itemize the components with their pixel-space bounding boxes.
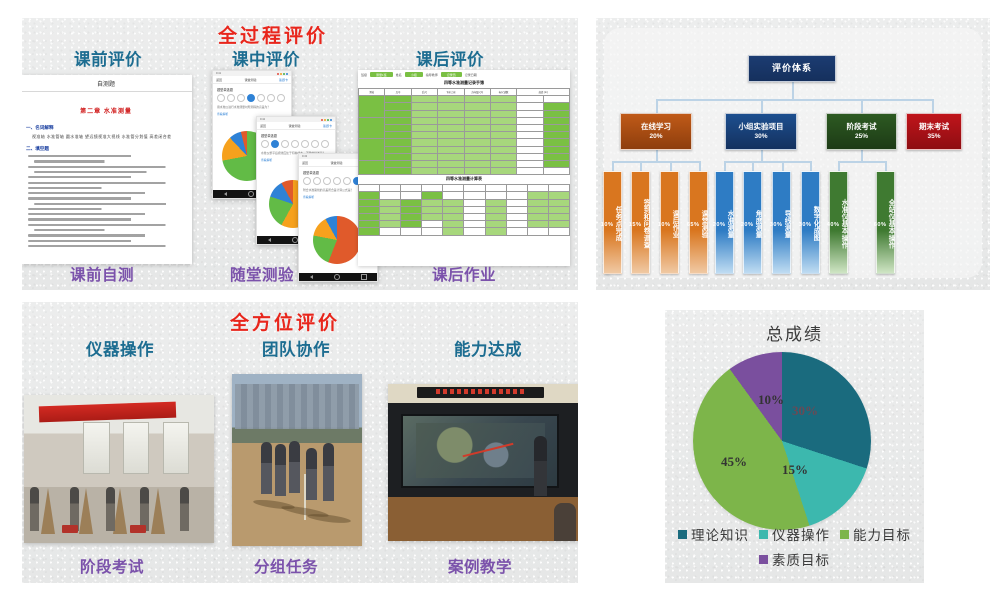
document-text-line — [28, 208, 184, 210]
node-label: 阶段考试 — [847, 123, 877, 132]
table-row — [359, 168, 570, 175]
chart-legend: 理论知识 仪器操作 能力目标 素质目标 — [665, 524, 924, 569]
table-row — [359, 139, 570, 146]
column-head-instrument: 仪器操作 — [86, 336, 154, 360]
phone-title: 课堂测验 — [288, 124, 300, 128]
connector — [810, 161, 812, 171]
sheet-record-table: 测站 点号 后尺 下丝上丝 方向及尺号 标尺读数 高差 (m) — [358, 88, 570, 175]
table-row — [359, 192, 570, 199]
photo-window — [163, 422, 190, 474]
photo-window — [83, 422, 110, 474]
sheet-calc-table — [358, 184, 570, 235]
document-text-line — [28, 197, 184, 199]
column-head-pre-class: 课前评价 — [74, 46, 142, 70]
column-head-teamwork: 团队协作 — [262, 336, 330, 360]
document-text-line — [28, 245, 184, 247]
photo-person — [289, 441, 300, 493]
phone-answer-card-link[interactable]: 答题卡 — [323, 124, 332, 128]
document-text-line — [34, 203, 184, 205]
legend-label: 仪器操作 — [772, 524, 830, 544]
leaf-percent: 10% — [658, 222, 671, 228]
column-foot-in-class: 随堂测验 — [230, 263, 294, 285]
th: 点号 — [385, 89, 411, 96]
sheet-field-class-label: 班级 — [361, 73, 367, 77]
document-text-line — [28, 213, 184, 215]
sheet-field-teacher-label: 指导教师 — [426, 73, 438, 77]
photo-person — [30, 487, 39, 531]
document-text-line — [28, 166, 184, 168]
sheet-field-name-label: 姓名 — [396, 73, 402, 77]
diagram-leaf-traverse-survey[interactable]: 导线测量 30% — [772, 171, 791, 274]
leaf-label: 课后作业 — [670, 210, 678, 238]
connector — [612, 161, 700, 163]
legend-label: 能力目标 — [853, 524, 911, 544]
photo-instrument-case — [62, 525, 78, 533]
leaf-label: 签到和问卷调查 — [641, 199, 649, 249]
photo-person — [106, 487, 115, 531]
diagram-leaf-signin-survey[interactable]: 签到和问卷调查 15% — [631, 171, 650, 274]
document-text-line — [28, 182, 184, 184]
sheet-field-date-label: 记录日期 — [465, 73, 477, 77]
photo-team-fieldwork — [232, 374, 362, 546]
phone-system-nav[interactable] — [299, 273, 377, 281]
photo-teacher — [534, 436, 547, 496]
allround-evaluation-panel: 全方位评价 仪器操作 团队协作 能力达成 — [22, 302, 578, 583]
document-terms-line: 视准轴 水准管轴 圆水准轴 望远镜视准大视线 水准管分划值 高差闭合差 — [32, 134, 192, 140]
photo-shadow — [307, 512, 352, 524]
leaf-percent: 40% — [827, 222, 840, 228]
leaf-label: 角度测量 — [753, 210, 761, 238]
legend-item-theory[interactable]: 理论知识 — [678, 524, 749, 544]
connector — [792, 81, 794, 99]
table-row — [359, 228, 570, 235]
th: 高差 (m) — [517, 89, 570, 96]
homework-spreadsheet: 班级 测量1班 姓名 小组 指导教师 记录员 记录日期 四等水准测量记录手簿 测… — [358, 70, 570, 266]
column-head-in-class: 课中评价 — [232, 46, 300, 70]
legend-label: 理论知识 — [691, 524, 749, 544]
connector — [861, 99, 863, 113]
slice-label-ability: 45% — [721, 454, 747, 470]
phone-nav-bar: 返回 课堂测验 答题卡 — [213, 76, 291, 84]
legend-swatch-icon — [678, 530, 687, 539]
diagram-node-online-learning[interactable]: 在线学习 20% — [620, 113, 692, 150]
document-text-line — [34, 171, 184, 173]
legend-swatch-icon — [840, 530, 849, 539]
th: 后尺 — [411, 89, 437, 96]
photo-case-teaching — [388, 384, 578, 541]
photo-person — [275, 444, 286, 496]
document-text-line — [28, 192, 184, 194]
phone-back-label[interactable]: 返回 — [216, 78, 222, 82]
document-chapter-title: 第二章 水准测量 — [22, 106, 192, 115]
leaf-percent: 10% — [601, 222, 614, 228]
column-foot-instrument: 阶段考试 — [80, 555, 144, 577]
phone-question-type: 题型单选题 — [261, 133, 335, 138]
connector — [932, 99, 934, 113]
document-text-line — [28, 155, 184, 157]
spreadsheet-toolbar: 班级 测量1班 姓名 小组 指导教师 记录员 记录日期 — [358, 70, 570, 79]
document-text-line — [34, 229, 184, 231]
legend-swatch-icon — [759, 530, 768, 539]
phone-question-numbers[interactable] — [257, 140, 335, 148]
connector — [699, 161, 701, 171]
connector — [724, 161, 726, 171]
node-percent: 35% — [927, 133, 940, 140]
legend-item-instrument[interactable]: 仪器操作 — [759, 524, 830, 544]
column-foot-teamwork: 分组任务 — [254, 555, 318, 577]
photo-student — [554, 503, 576, 541]
table-row — [359, 96, 570, 103]
phone-back-label[interactable]: 返回 — [260, 124, 266, 128]
table-row — [359, 160, 570, 167]
diagram-leaf-class-quiz[interactable]: 课堂测验 65% — [689, 171, 708, 274]
table-row — [359, 206, 570, 213]
photo-tripod — [41, 488, 55, 534]
total-score-chart-panel: 总成绩 30% 15% 45% 10% 理论知识 仪器操作 能力目标 素质目标 — [665, 310, 924, 583]
leaf-label: 课堂测验 — [699, 210, 707, 238]
process-panel-title: 全过程评价 — [218, 21, 328, 48]
connector — [612, 161, 614, 171]
slice-label-quality: 10% — [758, 392, 784, 408]
connector — [885, 161, 887, 171]
phone-answer-card-link[interactable]: 答题卡 — [279, 78, 288, 82]
leaf-percent: 30% — [770, 222, 783, 228]
table-row — [359, 153, 570, 160]
pie-chart — [693, 352, 871, 530]
photo-window — [123, 422, 150, 474]
document-section-terms: 一、名词解释 — [26, 125, 192, 131]
table-header-row — [359, 185, 570, 192]
photo-led-display — [417, 387, 544, 398]
diagram-leaf-task-completion[interactable]: 任务点完成 10% — [603, 171, 622, 274]
photo-person — [323, 443, 334, 501]
table-row — [359, 124, 570, 131]
connector — [782, 161, 784, 171]
connector — [670, 161, 672, 171]
sheet-caption-record: 四等水准测量记录手簿 — [358, 80, 570, 86]
legend-swatch-icon — [759, 555, 768, 564]
connector — [640, 161, 642, 171]
legend-item-quality[interactable]: 素质目标 — [759, 549, 830, 569]
column-foot-after-class: 课后作业 — [432, 263, 496, 285]
phone-question-text: 用水准仪进行水准测量时所测得的高差为？ — [217, 105, 287, 109]
connector — [656, 99, 933, 101]
column-head-ability: 能力达成 — [454, 336, 522, 360]
photo-person — [261, 442, 272, 494]
phone-back-label[interactable]: 返回 — [302, 161, 308, 165]
leaf-percent: 30% — [799, 222, 812, 228]
sheet-caption-calc: 四等水准测量计算表 — [358, 176, 570, 182]
connector — [861, 149, 863, 161]
node-percent: 30% — [754, 133, 767, 140]
photo-banner — [39, 401, 176, 422]
phone-title: 课堂测验 — [244, 78, 256, 82]
photo-instrument-operation — [24, 395, 214, 543]
node-label: 评价体系 — [772, 63, 812, 73]
phone-question-numbers[interactable] — [213, 94, 291, 102]
document-text-line — [28, 176, 184, 178]
evaluation-system-diagram: 评价体系 在线学习 20% 小组实验项目 30% 阶段考试 25% 期末考试 3… — [596, 18, 990, 290]
column-foot-ability: 案例教学 — [448, 555, 512, 577]
diagram-leaf-digital-mapping[interactable]: 数字化成图 30% — [801, 171, 820, 274]
connector — [724, 161, 811, 163]
diagram-node-root[interactable]: 评价体系 — [748, 55, 836, 82]
phone-result-pie-chart — [313, 216, 361, 264]
node-percent: 20% — [649, 133, 662, 140]
leaf-label: 数字化成图 — [811, 206, 819, 242]
table-row — [359, 132, 570, 139]
table-row — [359, 146, 570, 153]
sheet-chip-recorder: 记录员 — [441, 72, 462, 77]
column-head-after-class: 课后评价 — [416, 46, 484, 70]
document-section-blanks: 二、填空题 — [26, 146, 192, 152]
self-test-document: 自测题 第二章 水准测量 一、名词解释 视准轴 水准管轴 圆水准轴 望远镜视准大… — [22, 75, 192, 264]
connector — [838, 161, 886, 163]
slice-label-theory: 30% — [792, 403, 818, 419]
diagram-leaf-leveling-survey[interactable]: 水准测量 20% — [715, 171, 734, 274]
table-row — [359, 103, 570, 110]
connector — [656, 99, 658, 113]
evaluation-system-panel: 评价体系 在线学习 20% 小组实验项目 30% 阶段考试 25% 期末考试 3… — [596, 18, 990, 290]
photo-instrument-case — [130, 525, 146, 533]
photo-tripod — [113, 488, 127, 534]
leaf-label: 水准测量 — [725, 210, 733, 238]
diagram-node-stage-exam[interactable]: 阶段考试 25% — [826, 113, 897, 150]
column-foot-pre-class: 课前自测 — [70, 263, 134, 285]
diagram-node-group-experiment[interactable]: 小组实验项目 30% — [725, 113, 797, 150]
document-header: 自测题 — [22, 75, 192, 92]
sheet-chip-group: 小组 — [405, 72, 423, 77]
leaf-percent: 65% — [687, 222, 700, 228]
legend-label: 素质目标 — [772, 549, 830, 569]
connector — [838, 161, 840, 171]
photo-buildings — [235, 384, 360, 429]
allround-panel-title: 全方位评价 — [230, 308, 340, 335]
node-label: 在线学习 — [641, 123, 671, 132]
process-evaluation-panel: 全过程评价 课前评价 课中评价 课后评价 自测题 第二章 水准测量 一、名词解释… — [22, 18, 578, 290]
slice-label-instrument: 15% — [782, 462, 808, 478]
diagram-leaf-homework[interactable]: 课后作业 10% — [660, 171, 679, 274]
connector — [752, 161, 754, 171]
leaf-percent: 60% — [874, 222, 887, 228]
node-label: 期末考试 — [919, 123, 949, 132]
phone-nav-bar: 返回 课堂测验 答题卡 — [257, 122, 335, 130]
th: 下丝上丝 — [438, 89, 464, 96]
leaf-percent: 20% — [713, 222, 726, 228]
phone-title: 课堂测验 — [330, 161, 342, 165]
document-text-line — [28, 240, 184, 242]
leaf-label: 水准仪基本操作 — [839, 199, 847, 249]
legend-item-ability[interactable]: 能力目标 — [840, 524, 911, 544]
photo-person — [180, 487, 189, 531]
table-row — [359, 117, 570, 124]
table-row — [359, 214, 570, 221]
document-text-line — [28, 218, 184, 220]
diagram-leaf-total-station-operation[interactable]: 全站仪基本操作 60% — [876, 171, 895, 274]
node-percent: 25% — [855, 133, 868, 140]
photo-person — [306, 448, 317, 500]
diagram-leaf-level-basic-operation[interactable]: 水准仪基本操作 40% — [829, 171, 848, 274]
th: 方向及尺号 — [464, 89, 490, 96]
connector — [656, 149, 658, 161]
document-text-line — [28, 224, 184, 226]
th: 测站 — [359, 89, 385, 96]
leaf-percent: 15% — [629, 222, 642, 228]
leaf-label: 导线测量 — [782, 210, 790, 238]
chart-title: 总成绩 — [665, 320, 924, 345]
table-row — [359, 110, 570, 117]
node-label: 小组实验项目 — [739, 123, 784, 132]
document-text-line — [34, 160, 184, 162]
leaf-percent: 20% — [741, 222, 754, 228]
diagram-node-final-exam[interactable]: 期末考试 35% — [906, 113, 962, 150]
sheet-chip-class: 测量1班 — [370, 72, 393, 77]
diagram-leaf-angle-survey[interactable]: 角度测量 20% — [743, 171, 762, 274]
table-header-row: 测站 点号 后尺 下丝上丝 方向及尺号 标尺读数 高差 (m) — [359, 89, 570, 96]
photo-tripod — [151, 488, 165, 534]
leaf-label: 任务点完成 — [613, 206, 621, 242]
table-row — [359, 199, 570, 206]
th: 标尺读数 — [490, 89, 516, 96]
connector — [761, 149, 763, 161]
table-row — [359, 221, 570, 228]
document-text-line — [28, 234, 184, 236]
phone-question-type: 题型单选题 — [217, 87, 291, 92]
document-text-line — [28, 187, 184, 189]
leaf-label: 全站仪基本操作 — [886, 199, 894, 249]
connector — [761, 99, 763, 113]
photo-tripod — [79, 488, 93, 534]
